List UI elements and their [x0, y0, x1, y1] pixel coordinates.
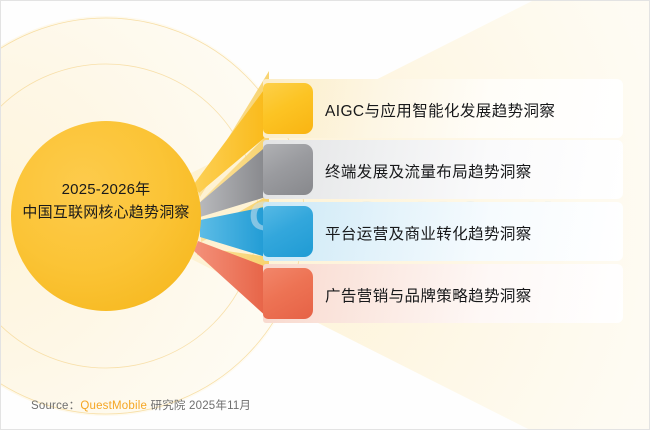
trend-chip-2[interactable]: [263, 144, 313, 195]
source-footer: Source：QuestMobile 研究院 2025年11月: [31, 397, 251, 413]
source-suffix: 研究院 2025年11月: [147, 400, 251, 412]
trend-chip-1[interactable]: [263, 83, 313, 134]
trend-label-1: AIGC与应用智能化发展趋势洞察: [325, 99, 555, 121]
trend-label-3: 平台运营及商业转化趋势洞察: [325, 222, 532, 244]
trend-label-2: 终端发展及流量布局趋势洞察: [325, 160, 532, 182]
source-brand: QuestMobile: [80, 400, 147, 412]
trend-label-4: 广告营销与品牌策略趋势洞察: [325, 284, 532, 306]
trend-chip-3[interactable]: [263, 206, 313, 257]
infographic-canvas: QUESTMOBILE 2025-2026年 中国互联网核心趋势洞察 AIGC与…: [0, 0, 650, 430]
source-prefix: Source：: [31, 400, 80, 412]
trend-chip-4[interactable]: [263, 268, 313, 319]
